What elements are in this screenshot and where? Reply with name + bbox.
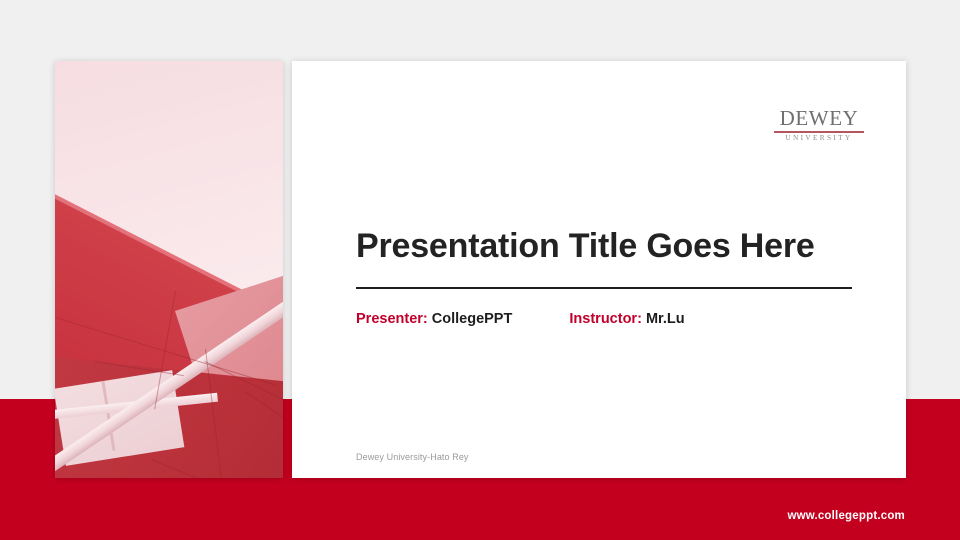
dewey-university-logo: DEWEY UNIVERSITY <box>773 108 865 142</box>
instructor-value: Mr.Lu <box>646 311 685 327</box>
title-divider-rule <box>356 287 852 289</box>
presentation-meta-line: Presenter: CollegePPT Instructor: Mr.Lu <box>356 311 685 327</box>
cover-photo-panel <box>55 61 283 478</box>
slide-footer-text: Dewey University-Hato Rey <box>356 452 469 462</box>
instructor-group: Instructor: Mr.Lu <box>569 311 684 327</box>
instructor-label: Instructor: <box>569 311 642 327</box>
logo-subtitle: UNIVERSITY <box>773 135 865 142</box>
site-url-text: www.collegeppt.com <box>787 510 905 522</box>
architecture-photo-image <box>55 61 283 478</box>
presenter-label: Presenter: <box>356 311 428 327</box>
logo-divider-rule <box>774 131 864 133</box>
slide-canvas: www.collegeppt.com DEWEY UNIVERSI <box>0 0 960 540</box>
page-title: Presentation Title Goes Here <box>356 227 815 266</box>
presenter-group: Presenter: CollegePPT <box>356 311 512 327</box>
presenter-value: CollegePPT <box>432 311 513 327</box>
title-slide: DEWEY UNIVERSITY Presentation Title Goes… <box>292 61 906 478</box>
logo-wordmark: DEWEY <box>773 108 865 129</box>
